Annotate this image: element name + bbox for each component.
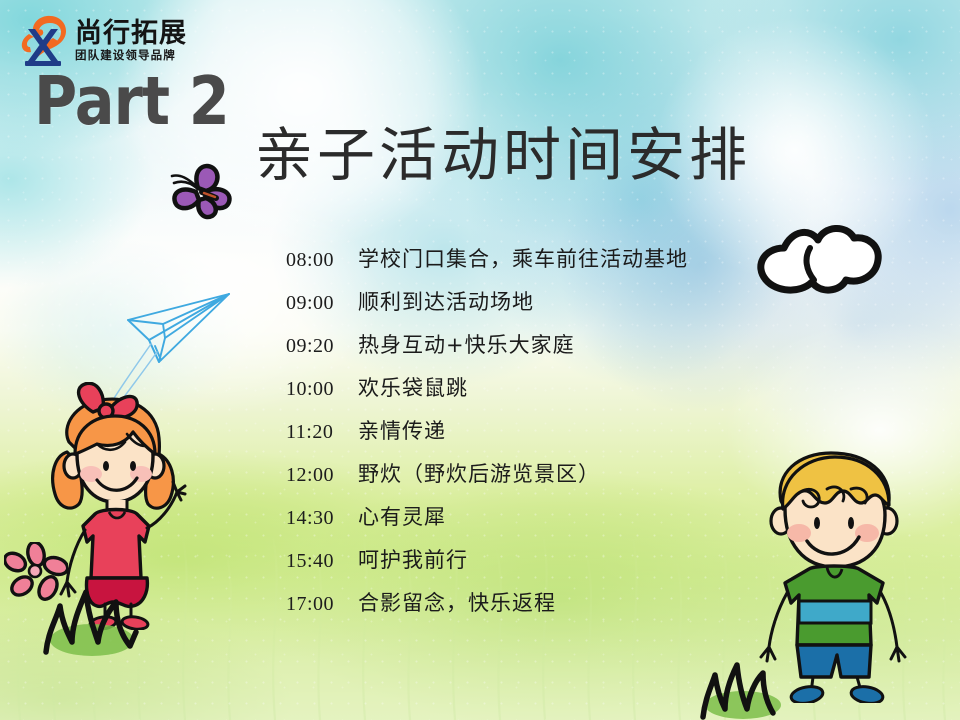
page-title: 亲子活动时间安排 — [255, 126, 751, 184]
brand-name: 尚行拓展 — [75, 20, 187, 47]
schedule-row: 09:00 顺利到达活动场地 — [286, 286, 688, 329]
schedule-time: 11:20 — [286, 421, 358, 444]
schedule-row: 12:00 野炊（野炊后游览景区） — [286, 458, 688, 501]
schedule-time: 10:00 — [286, 378, 358, 401]
schedule-activity: 合影留念，快乐返程 — [358, 587, 556, 617]
schedule-time: 15:40 — [286, 550, 358, 573]
schedule-row: 17:00 合影留念，快乐返程 — [286, 587, 688, 630]
schedule-time: 08:00 — [286, 249, 358, 272]
grass-tuft-icon — [38, 580, 146, 658]
schedule-time: 17:00 — [286, 593, 358, 616]
schedule-list: 08:00 学校门口集合，乘车前往活动基地 09:00 顺利到达活动场地 09:… — [286, 243, 688, 630]
schedule-time: 09:00 — [286, 292, 358, 315]
part-label: Part 2 — [34, 68, 229, 135]
schedule-activity: 热身互动+快乐大家庭 — [358, 329, 575, 359]
schedule-row: 08:00 学校门口集合，乘车前往活动基地 — [286, 243, 688, 286]
schedule-activity: 学校门口集合，乘车前往活动基地 — [358, 243, 688, 273]
brand-tagline: 团队建设领导品牌 — [75, 50, 187, 62]
schedule-activity: 亲情传递 — [358, 415, 446, 445]
brand-wordmark: 尚行拓展 团队建设领导品牌 — [75, 20, 187, 62]
schedule-activity: 呵护我前行 — [358, 544, 468, 574]
schedule-activity: 野炊（野炊后游览景区） — [358, 458, 600, 488]
schedule-activity: 顺利到达活动场地 — [358, 286, 534, 316]
brand-logo: 尚行拓展 团队建设领导品牌 — [17, 14, 187, 68]
schedule-time: 09:20 — [286, 335, 358, 358]
grass-tuft-icon — [697, 655, 793, 720]
schedule-row: 11:20 亲情传递 — [286, 415, 688, 458]
schedule-time: 14:30 — [286, 507, 358, 530]
flame-x-logo-icon — [17, 14, 69, 68]
schedule-activity: 心有灵犀 — [358, 501, 446, 531]
cloud-icon — [748, 218, 890, 302]
schedule-row: 09:20 热身互动+快乐大家庭 — [286, 329, 688, 372]
schedule-row: 15:40 呵护我前行 — [286, 544, 688, 587]
schedule-row: 14:30 心有灵犀 — [286, 501, 688, 544]
butterfly-icon — [158, 158, 236, 224]
schedule-activity: 欢乐袋鼠跳 — [358, 372, 468, 402]
schedule-row: 10:00 欢乐袋鼠跳 — [286, 372, 688, 415]
slide-canvas: 尚行拓展 团队建设领导品牌 Part 2 亲子活动时间安排 08:00 学校门口… — [0, 0, 960, 720]
schedule-time: 12:00 — [286, 464, 358, 487]
